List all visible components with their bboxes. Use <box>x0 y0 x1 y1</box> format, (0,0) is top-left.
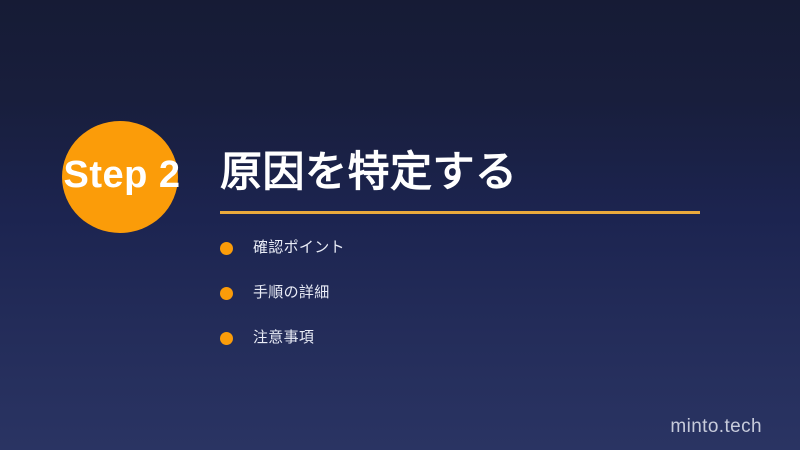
bullet-dot-icon <box>220 332 233 345</box>
step-badge-label: Step 2 <box>46 151 198 199</box>
list-item: 確認ポイント <box>220 236 700 260</box>
list-item-label: 手順の詳細 <box>253 281 330 305</box>
title-underline-divider <box>220 211 700 214</box>
bullet-list: 確認ポイント 手順の詳細 注意事項 <box>220 236 700 371</box>
bullet-dot-icon <box>220 287 233 300</box>
bullet-dot-icon <box>220 242 233 255</box>
list-item: 注意事項 <box>220 326 700 350</box>
slide-title: 原因を特定する <box>220 146 518 198</box>
list-item-label: 確認ポイント <box>253 236 345 260</box>
list-item-label: 注意事項 <box>253 326 314 350</box>
footer-brand-label: minto.tech <box>670 416 762 438</box>
list-item: 手順の詳細 <box>220 281 700 305</box>
slide-canvas: Step 2 原因を特定する 確認ポイント 手順の詳細 注意事項 minto.t… <box>0 0 800 450</box>
